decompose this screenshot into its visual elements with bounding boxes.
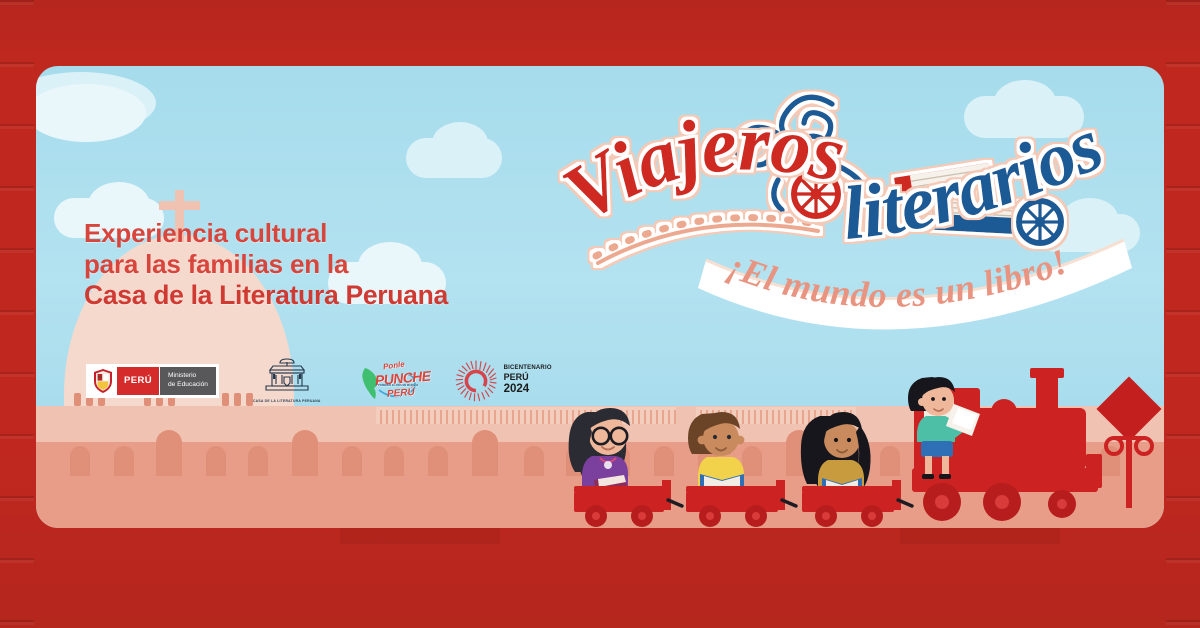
ministerio-line-2: de Educación: [168, 381, 208, 390]
casa-caption: CASA DE LA LITERATURA PERUANA: [253, 399, 321, 403]
ministerio-line-1: Ministerio: [168, 372, 208, 381]
railroad-crossing-sign: [1096, 376, 1161, 508]
logo-bicentenario-peru: BICENTENARIO PERÚ 2024: [455, 360, 552, 402]
logo-ponle-punche-peru: Ponle PUNCHE PERÚ Y PONEMOS EL PAÍS EN M…: [355, 360, 421, 402]
bicentenario-line-2: PERÚ: [504, 372, 552, 382]
logo-ministerio-educacion: PERÚ Ministerio de Educación: [86, 364, 219, 398]
logo-ministerio-label: Ministerio de Educación: [159, 367, 216, 395]
train-car-1: [569, 408, 682, 527]
train-car-3: [801, 412, 912, 527]
punche-word-peru: PERÚ: [386, 387, 414, 400]
bicentenario-text: BICENTENARIO PERÚ 2024: [504, 365, 552, 395]
headline-line-1: Experiencia cultural: [84, 218, 554, 249]
cloud-decor: [432, 122, 488, 164]
headline-block: Experiencia cultural para las familias e…: [84, 218, 554, 311]
locomotive: [908, 368, 1102, 521]
ticket-edge-left: [0, 0, 34, 628]
bicentenario-line-3: 2024: [504, 383, 552, 396]
scene-panel: Experiencia cultural para las familias e…: [36, 66, 1164, 528]
viajeros-literarios-logotype: ¡El mundo es un libro! Viajeros literari…: [546, 74, 1146, 334]
peru-coat-of-arms-icon: [89, 367, 117, 395]
casa-building-icon: [262, 358, 312, 392]
punche-slogan: Y PONEMOS EL PAÍS EN MARCHA: [376, 384, 419, 387]
track-decor: [596, 218, 818, 263]
logo-strip: PERÚ Ministerio de Educación: [86, 358, 552, 403]
cross-icon: [159, 201, 200, 210]
logotype-word-literarios: literarios: [839, 103, 1114, 256]
cloud-decor: [36, 84, 146, 142]
train-car-2: [686, 412, 796, 527]
banner-ticket: Experiencia cultural para las familias e…: [0, 0, 1200, 628]
bicentenario-sunburst-icon: [455, 360, 497, 402]
headline-line-2: para las familias en la: [84, 249, 554, 280]
logo-casa-de-la-literatura: CASA DE LA LITERATURA PERUANA: [253, 358, 321, 403]
headline-line-3: Casa de la Literatura Peruana: [84, 280, 554, 312]
ticket-edge-right: [1166, 0, 1200, 628]
logo-peru-label: PERÚ: [117, 367, 159, 395]
